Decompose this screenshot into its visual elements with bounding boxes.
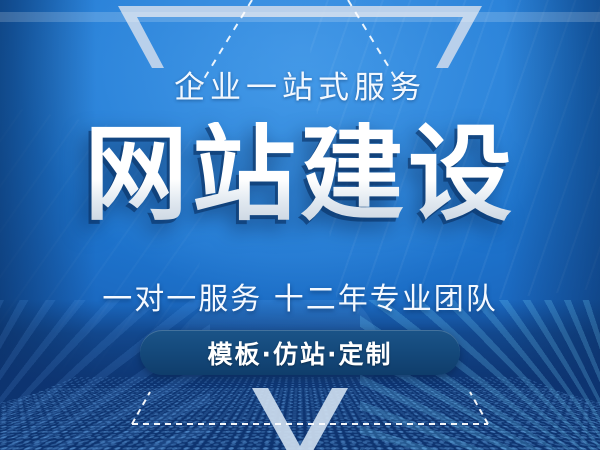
halftone-fan-right (360, 300, 600, 450)
halftone-fan-left (0, 300, 210, 450)
sub-tagline: 一对一服务 十二年专业团队 (0, 274, 600, 318)
bottom-chevron (252, 388, 348, 450)
service-badge-label: 模板·仿站·定制 (208, 335, 393, 371)
poster-canvas: 企业一站式服务 网站建设 一对一服务 十二年专业团队 模板·仿站·定制 (0, 0, 600, 450)
top-tagline: 企业一站式服务 (0, 62, 600, 107)
service-badge: 模板·仿站·定制 (140, 330, 460, 375)
top-chevron-frame (118, 6, 482, 68)
top-chevron-icon (118, 6, 482, 68)
page-title: 网站建设 (0, 122, 600, 226)
bottom-v-chevron-icon (252, 388, 348, 450)
